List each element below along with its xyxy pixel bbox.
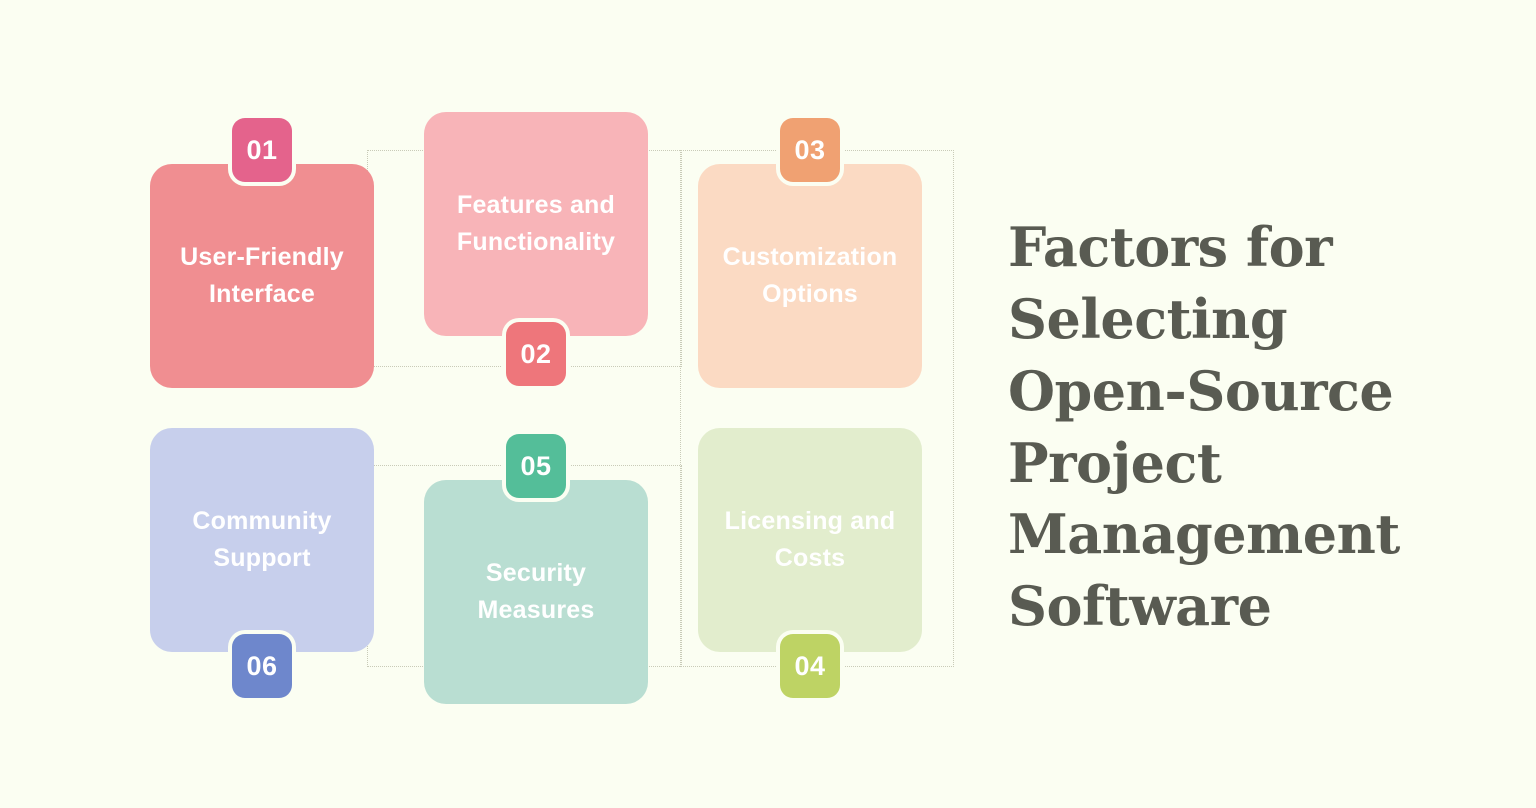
card-label: User-Friendly Interface (168, 239, 356, 314)
card-user-friendly-interface[interactable]: User-Friendly Interface (150, 164, 374, 388)
badge-01[interactable]: 01 (228, 114, 296, 186)
badge-number: 04 (794, 651, 825, 682)
badge-03[interactable]: 03 (776, 114, 844, 186)
badge-number: 05 (520, 451, 551, 482)
card-label: Customization Options (716, 239, 904, 314)
card-label: Features and Functionality (442, 187, 630, 262)
card-label: Licensing and Costs (716, 503, 904, 578)
badge-04[interactable]: 04 (776, 630, 844, 702)
badge-number: 03 (794, 135, 825, 166)
badge-number: 01 (246, 135, 277, 166)
badge-06[interactable]: 06 (228, 630, 296, 702)
card-customization-options[interactable]: Customization Options (698, 164, 922, 388)
card-label: Security Measures (442, 555, 630, 630)
page-title: Factors for Selecting Open-Source Projec… (1008, 212, 1468, 643)
card-features-and-functionality[interactable]: Features and Functionality (424, 112, 648, 336)
badge-number: 02 (520, 339, 551, 370)
infographic-canvas: User-Friendly Interface 01 Features and … (0, 0, 1536, 808)
card-security-measures[interactable]: Security Measures (424, 480, 648, 704)
badge-02[interactable]: 02 (502, 318, 570, 390)
card-licensing-and-costs[interactable]: Licensing and Costs (698, 428, 922, 652)
badge-05[interactable]: 05 (502, 430, 570, 502)
card-label: Community Support (168, 503, 356, 578)
card-community-support[interactable]: Community Support (150, 428, 374, 652)
badge-number: 06 (246, 651, 277, 682)
